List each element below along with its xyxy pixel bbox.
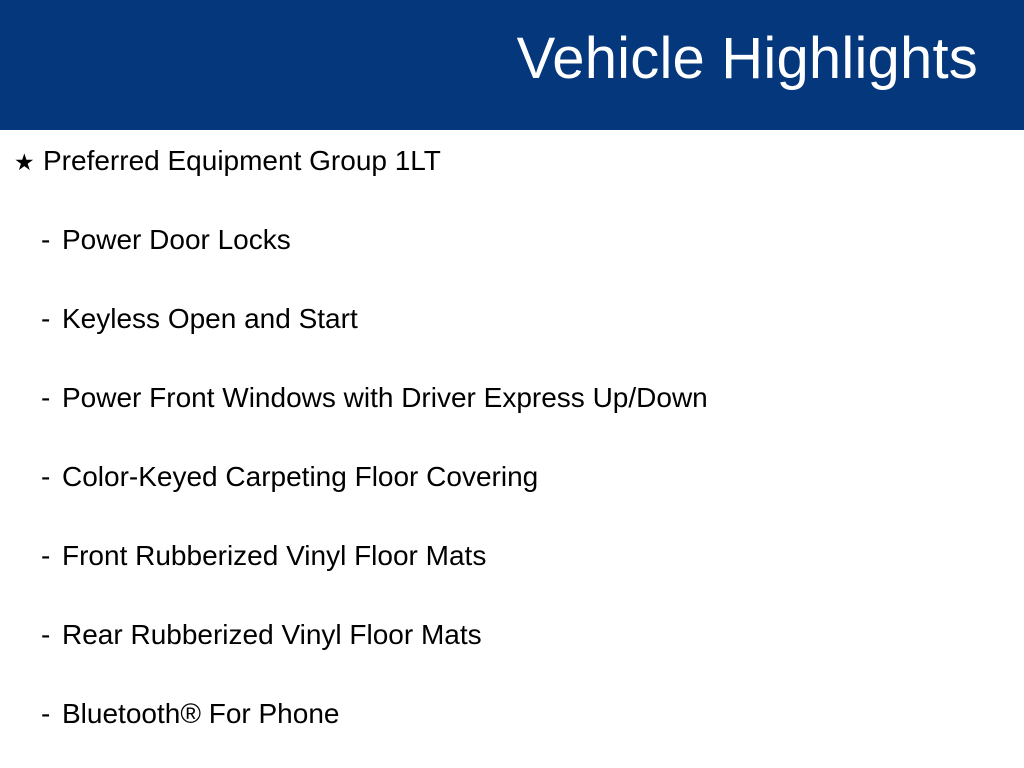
list-item-label: Rear Rubberized Vinyl Floor Mats: [62, 618, 482, 652]
list-item-row: -Power Door Locks: [0, 223, 291, 257]
list-item-row: -Color-Keyed Carpeting Floor Covering: [0, 460, 538, 494]
list-item-label: Color-Keyed Carpeting Floor Covering: [62, 460, 538, 494]
page-title: Vehicle Highlights: [517, 26, 978, 92]
vehicle-highlights-list: ★Preferred Equipment Group 1LT-Power Doo…: [0, 130, 1024, 762]
list-item-label: Keyless Open and Start: [62, 302, 358, 336]
list-item: -Rear Rubberized Vinyl Floor Mats: [0, 604, 1024, 683]
list-item: -Power Door Locks: [0, 209, 1024, 288]
list-item-label: Bluetooth® For Phone: [62, 697, 339, 731]
dash-bullet-icon: -: [41, 223, 62, 257]
list-item: -Power Front Windows with Driver Express…: [0, 367, 1024, 446]
list-item-row: -Keyless Open and Start: [0, 302, 358, 336]
list-item: -Bluetooth® For Phone: [0, 683, 1024, 762]
dash-bullet-icon: -: [41, 381, 62, 415]
header-banner: Vehicle Highlights: [0, 0, 1024, 130]
list-item-row: -Rear Rubberized Vinyl Floor Mats: [0, 618, 482, 652]
list-item: -Front Rubberized Vinyl Floor Mats: [0, 525, 1024, 604]
list-item: -Color-Keyed Carpeting Floor Covering: [0, 446, 1024, 525]
list-item: -Keyless Open and Start: [0, 288, 1024, 367]
list-item-row: -Front Rubberized Vinyl Floor Mats: [0, 539, 486, 573]
list-item-row: -Power Front Windows with Driver Express…: [0, 381, 708, 415]
list-item-label: Front Rubberized Vinyl Floor Mats: [62, 539, 486, 573]
list-item-label: Power Front Windows with Driver Express …: [62, 381, 708, 415]
slide-vehicle-highlights: Vehicle Highlights ★Preferred Equipment …: [0, 0, 1024, 768]
dash-bullet-icon: -: [41, 697, 62, 731]
list-item-row: ★Preferred Equipment Group 1LT: [0, 144, 441, 180]
dash-bullet-icon: -: [41, 302, 62, 336]
dash-bullet-icon: -: [41, 618, 62, 652]
dash-bullet-icon: -: [41, 539, 62, 573]
star-bullet-icon: ★: [14, 146, 43, 180]
dash-bullet-icon: -: [41, 460, 62, 494]
list-item-label: Preferred Equipment Group 1LT: [43, 144, 441, 178]
highlights-content: ★Preferred Equipment Group 1LT-Power Doo…: [0, 130, 1024, 768]
list-item-label: Power Door Locks: [62, 223, 291, 257]
list-item-row: -Bluetooth® For Phone: [0, 697, 339, 731]
list-item: ★Preferred Equipment Group 1LT: [0, 130, 1024, 209]
